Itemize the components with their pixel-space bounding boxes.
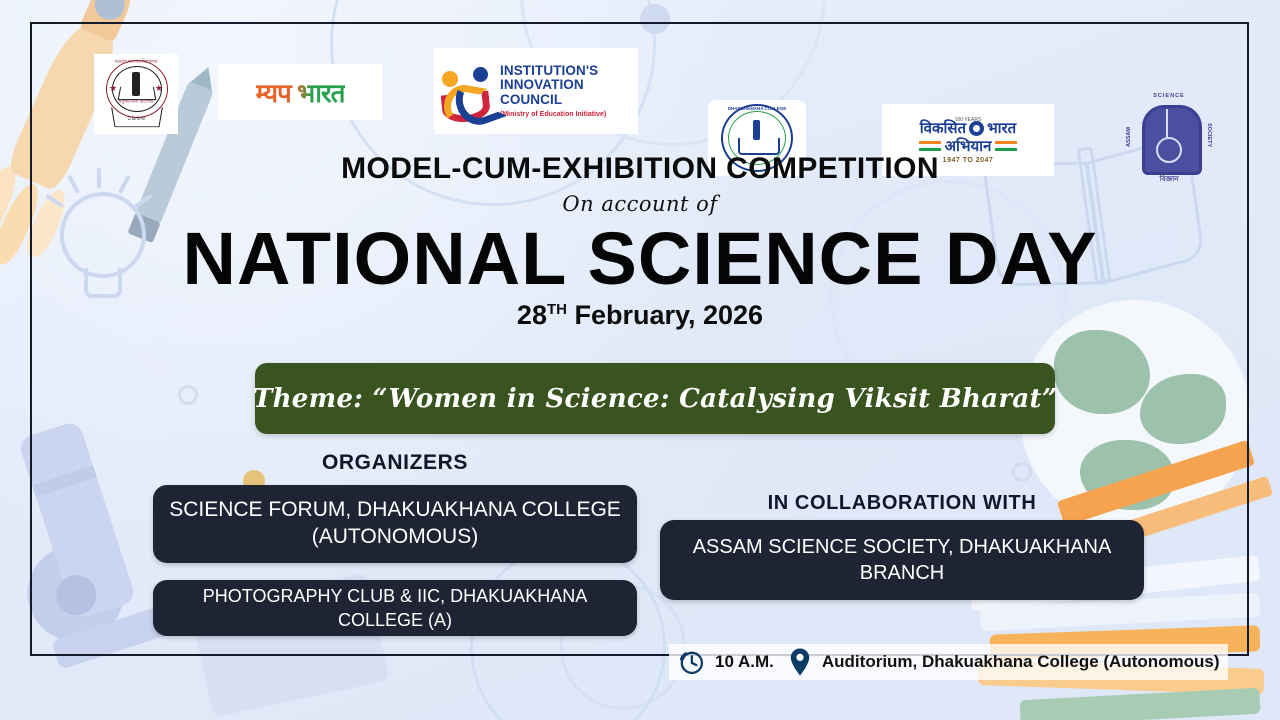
viksit-bharat-line-1b: भारत <box>987 121 1016 136</box>
organizer-name: SCIENCE FORUM, DHAKUAKHANA COLLEGE (AUTO… <box>153 497 637 551</box>
date-rest: February, 2026 <box>567 300 763 330</box>
iic-line-3: COUNCIL <box>500 93 606 108</box>
seal-year: ১৯৬৬ <box>99 112 173 124</box>
collaborator-card: ASSAM SCIENCE SOCIETY, DHAKUAKHANA BRANC… <box>660 520 1144 600</box>
logo-dhakuakhana-college-seal: আমার আসাম বিদ্যালয় ★★ ঢকুআখনা কলেজ ১৯৬৬ <box>94 54 178 134</box>
seal-bottom-text: ঢকুআখনা কলেজ <box>99 99 173 107</box>
collaborator-name: ASSAM SCIENCE SOCIETY, DHAKUAKHANA BRANC… <box>660 534 1144 586</box>
my-bharat-label: म्यप भारत <box>256 74 345 110</box>
viksit-bharat-line-1a: विकसित <box>920 121 966 136</box>
ashoka-chakra-icon <box>969 121 984 136</box>
theme-text: Theme: “Women in Science: Catalysing Vik… <box>253 384 1057 414</box>
bubble-icon <box>1012 462 1032 482</box>
date-day: 28 <box>517 300 547 330</box>
date-ordinal: TH <box>547 301 567 318</box>
event-date: 28TH February, 2026 <box>0 300 1280 331</box>
tricolor-bar-icon <box>919 141 941 152</box>
ass-top-text: SCIENCE <box>1126 93 1212 99</box>
iic-subtitle: (Ministry of Education Initiative) <box>500 111 606 119</box>
logo-institutions-innovation-council: INSTITUTION'S INNOVATION COUNCIL (Minist… <box>434 48 638 134</box>
page-title: NATIONAL SCIENCE DAY <box>0 222 1280 296</box>
poster-canvas: আমার আসাম বিদ্যালয় ★★ ঢকুআখনা কলেজ ১৯৬৬ … <box>0 0 1280 720</box>
logo-row: আমার আসাম বিদ্যালয় ★★ ঢকুআখনা কলেজ ১৯৬৬ … <box>30 48 1250 136</box>
event-time: 10 A.M. <box>715 652 774 672</box>
organizer-card: SCIENCE FORUM, DHAKUAKHANA COLLEGE (AUTO… <box>153 485 637 563</box>
iic-line-2: INNOVATION <box>500 78 606 93</box>
event-venue: Auditorium, Dhakuakhana College (Autonom… <box>822 652 1220 672</box>
collaboration-label: IN COLLABORATION WITH <box>660 492 1144 515</box>
iic-line-1: INSTITUTION'S <box>500 64 606 79</box>
ass-right-text: SOCIETY <box>1206 123 1212 147</box>
event-header: MODEL-CUM-EXHIBITION COMPETITION <box>0 152 1280 186</box>
location-pin-icon <box>788 647 812 677</box>
iic-swoosh-icon <box>440 63 492 119</box>
ass-left-text: ASSAM <box>1126 127 1132 147</box>
atom-dot-icon <box>640 4 670 34</box>
logo-my-bharat: म्यप भारत <box>218 64 382 120</box>
organizer-name: PHOTOGRAPHY CLUB & IIC, DHAKUAKHANA COLL… <box>153 584 637 632</box>
on-account-of-text: On account of <box>0 192 1280 216</box>
emblem-arc-text: DHAKUAKHANA COLLEGE <box>721 106 793 111</box>
organizers-label: ORGANIZERS <box>153 451 637 475</box>
tricolor-bar-icon <box>995 141 1017 152</box>
theme-banner: Theme: “Women in Science: Catalysing Vik… <box>255 363 1055 434</box>
organizer-card: PHOTOGRAPHY CLUB & IIC, DHAKUAKHANA COLL… <box>153 580 637 636</box>
clock-icon <box>677 648 705 676</box>
bubble-icon <box>178 385 198 405</box>
event-details-footer: 10 A.M. Auditorium, Dhakuakhana College … <box>669 644 1228 680</box>
